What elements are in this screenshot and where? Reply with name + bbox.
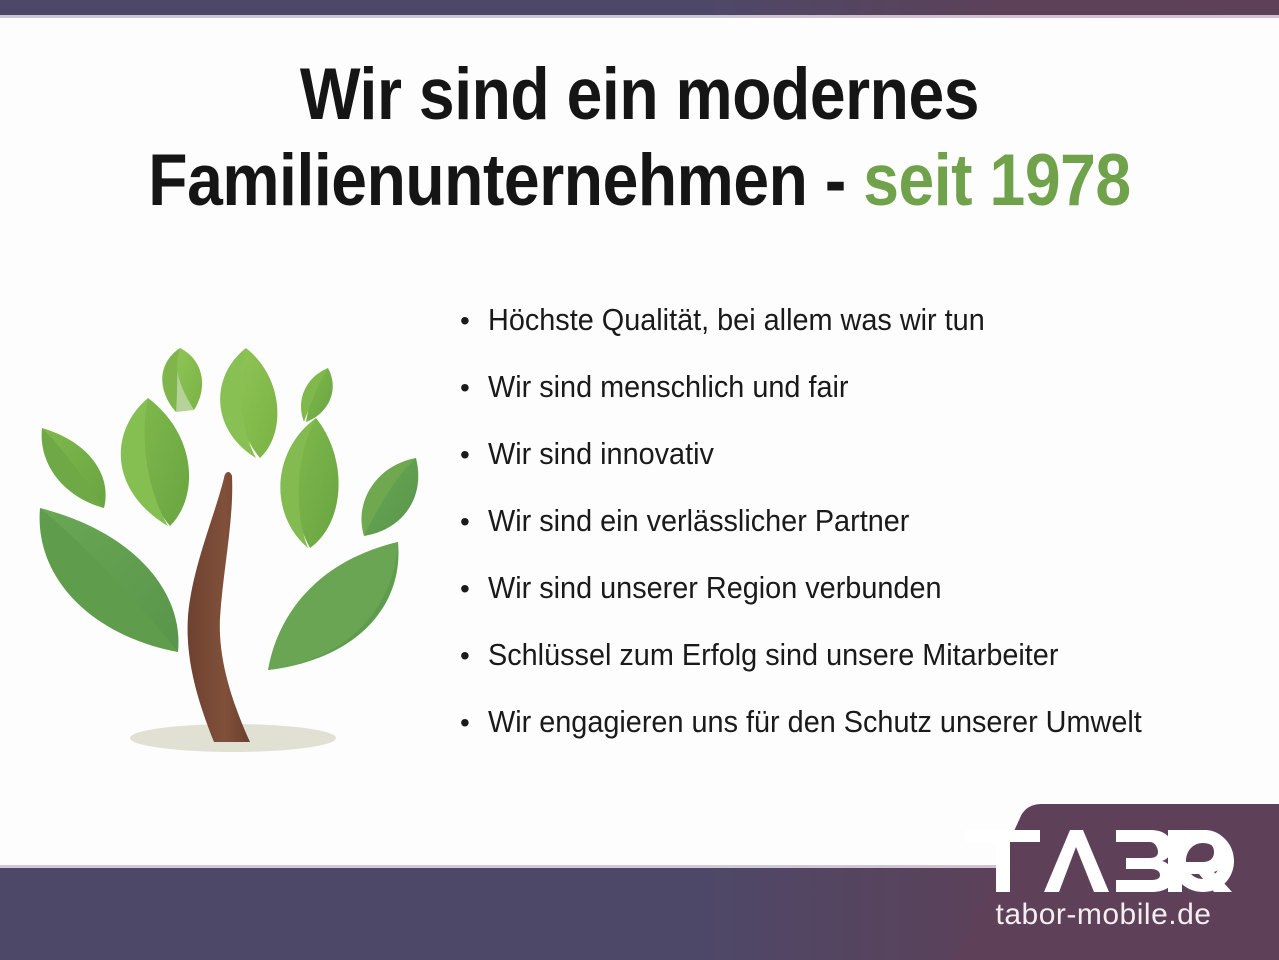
- bullet-icon: •: [460, 301, 488, 341]
- tree-icon: [28, 330, 438, 760]
- bullet-icon: •: [460, 435, 488, 475]
- bullet-icon: •: [460, 703, 488, 743]
- list-item-label: Wir sind ein verlässlicher Partner: [488, 501, 1215, 541]
- top-accent-bar: [0, 0, 1279, 15]
- list-item: • Wir sind innovativ: [460, 434, 1270, 501]
- tree-illustration: [28, 330, 438, 760]
- tree-trunk: [188, 472, 250, 742]
- list-item-label: Wir engagieren uns für den Schutz unsere…: [488, 702, 1215, 742]
- top-accent-bar-highlight: [0, 15, 1279, 18]
- list-item: • Wir sind ein verlässlicher Partner: [460, 501, 1270, 568]
- bullet-icon: •: [460, 502, 488, 542]
- list-item-label: Schlüssel zum Erfolg sind unsere Mitarbe…: [488, 635, 1215, 675]
- list-item: • Wir sind unserer Region verbunden: [460, 568, 1270, 635]
- list-item-label: Wir sind menschlich und fair: [488, 367, 1215, 407]
- page-title-line-2-prefix: Familienunternehmen -: [148, 140, 863, 221]
- list-item: • Wir engagieren uns für den Schutz unse…: [460, 702, 1270, 769]
- list-item-label: Wir sind unserer Region verbunden: [488, 568, 1215, 608]
- page-title-line-2: Familienunternehmen - seit 1978: [77, 138, 1203, 224]
- bullet-icon: •: [460, 636, 488, 676]
- brand-logo: tabor-mobile.de: [880, 800, 1279, 960]
- list-item-label: Höchste Qualität, bei allem was wir tun: [488, 300, 1215, 340]
- list-item: • Höchste Qualität, bei allem was wir tu…: [460, 300, 1270, 367]
- tabor-wordmark-icon: [966, 830, 1236, 892]
- value-list: • Höchste Qualität, bei allem was wir tu…: [460, 300, 1270, 769]
- page-title-accent: seit 1978: [863, 140, 1130, 221]
- page-title: Wir sind ein modernes Familienunternehme…: [77, 52, 1203, 224]
- list-item: • Wir sind menschlich und fair: [460, 367, 1270, 434]
- list-item: • Schlüssel zum Erfolg sind unsere Mitar…: [460, 635, 1270, 702]
- bullet-icon: •: [460, 368, 488, 408]
- slide-canvas: Wir sind ein modernes Familienunternehme…: [0, 0, 1279, 960]
- page-title-line-1: Wir sind ein modernes: [300, 54, 979, 135]
- brand-url: tabor-mobile.de: [966, 898, 1241, 932]
- bullet-icon: •: [460, 569, 488, 609]
- list-item-label: Wir sind innovativ: [488, 434, 1215, 474]
